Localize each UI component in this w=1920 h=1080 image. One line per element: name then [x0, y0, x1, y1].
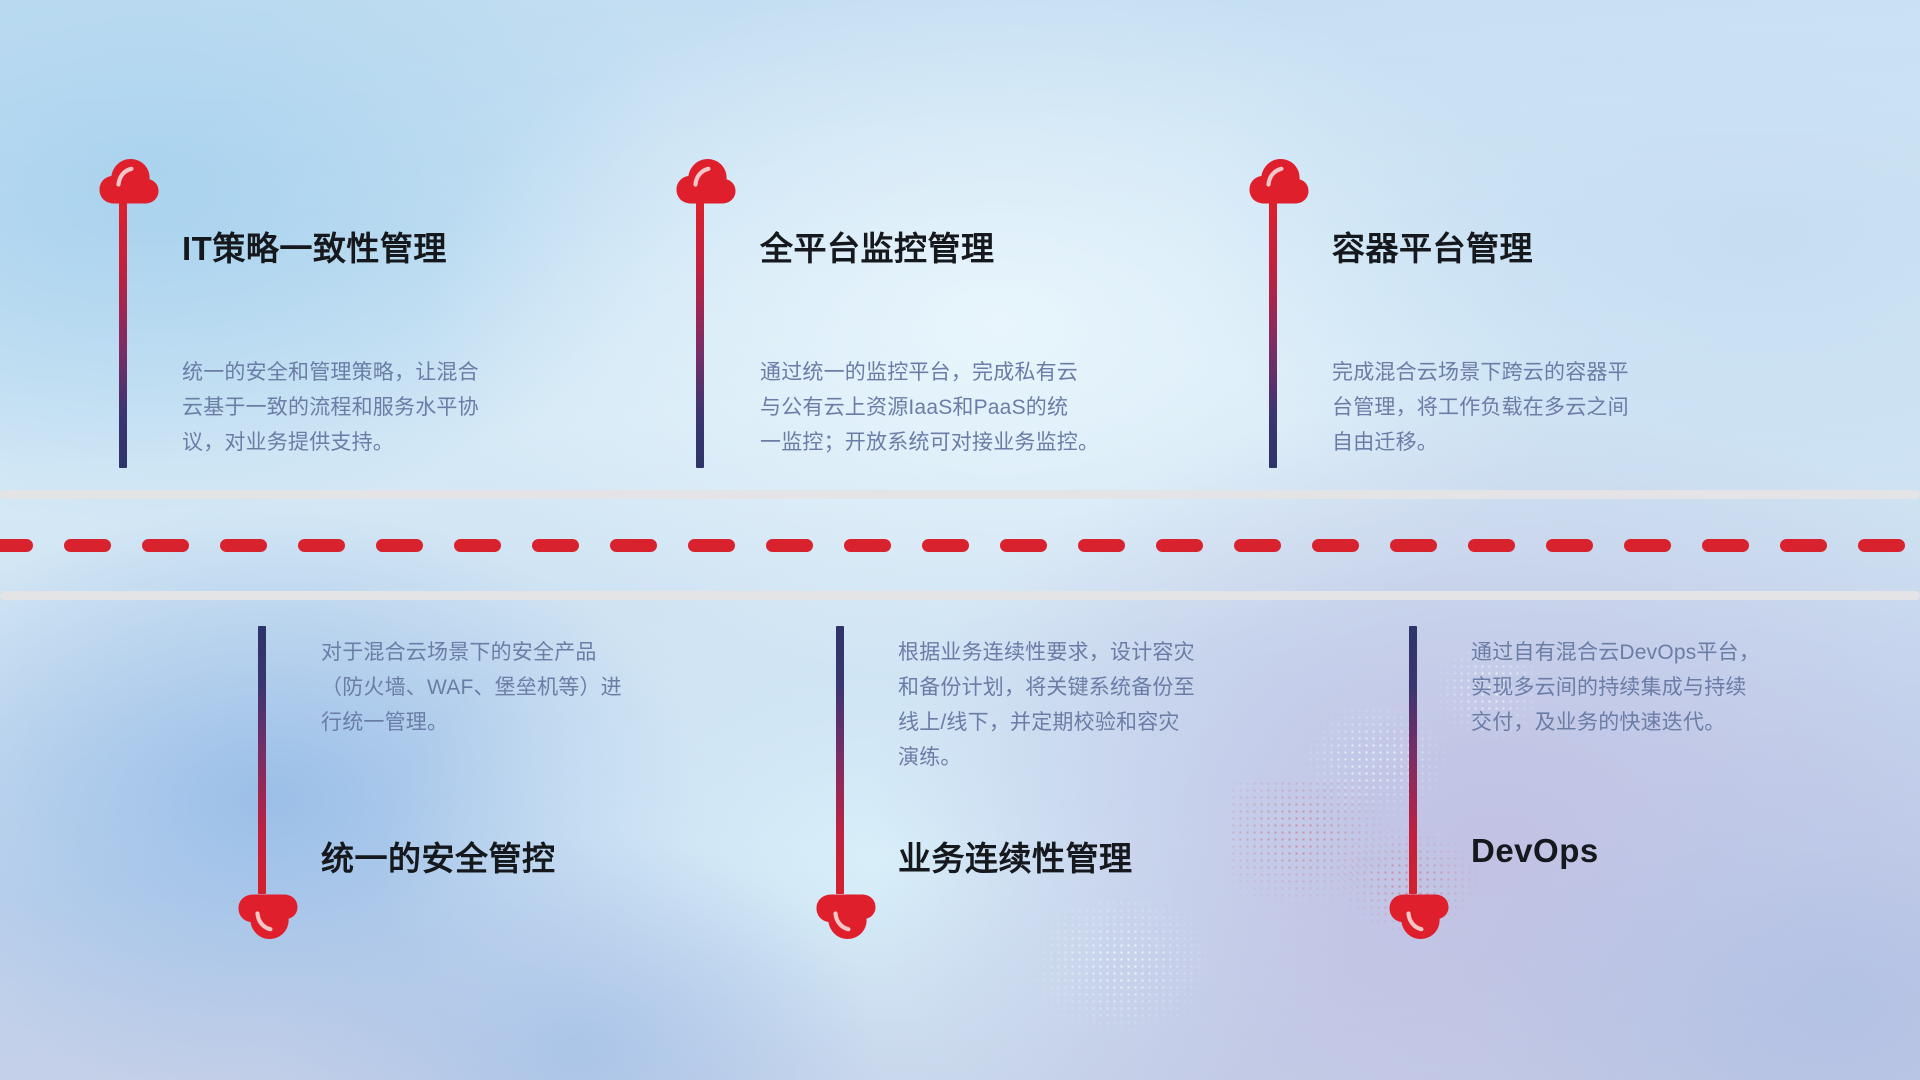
- feature-heading: 业务连续性管理: [898, 832, 1133, 880]
- connector-stem: [696, 200, 704, 468]
- description-line: 线上/线下，并定期校验和容灾: [898, 705, 1195, 740]
- dash-segment: [454, 539, 501, 552]
- decorative-dot-matrix: [1230, 780, 1400, 910]
- dash-segment: [1234, 539, 1281, 552]
- dash-segment: [1780, 539, 1827, 552]
- dash-segment: [0, 539, 33, 552]
- dash-segment: [922, 539, 969, 552]
- description-line: 和备份计划，将关键系统备份至: [898, 670, 1195, 705]
- dash-segment: [64, 539, 111, 552]
- description-line: 交付，及业务的快速迭代。: [1471, 705, 1760, 740]
- description-line: 演练。: [898, 740, 1195, 775]
- dash-segment: [1000, 539, 1047, 552]
- description-line: 统一的安全和管理策略，让混合: [182, 355, 479, 390]
- dash-segment: [1546, 539, 1593, 552]
- feature-description: 对于混合云场景下的安全产品 （防火墙、WAF、堡垒机等）进 行统一管理。: [321, 635, 622, 740]
- feature-heading: 全平台监控管理: [760, 222, 995, 270]
- cloud-icon: [815, 894, 877, 940]
- cloud-icon: [1248, 158, 1310, 204]
- dash-segment: [1312, 539, 1359, 552]
- description-line: 通过自有混合云DevOps平台，: [1471, 635, 1760, 670]
- description-line: 行统一管理。: [321, 705, 622, 740]
- cloud-icon: [1388, 894, 1450, 940]
- feature-heading: 统一的安全管控: [321, 832, 556, 880]
- description-line: 云基于一致的流程和服务水平协: [182, 390, 479, 425]
- divider-rail-bottom: [0, 591, 1920, 600]
- description-line: （防火墙、WAF、堡垒机等）进: [321, 670, 622, 705]
- description-line: 完成混合云场景下跨云的容器平: [1332, 355, 1629, 390]
- dash-segment: [610, 539, 657, 552]
- feature-description: 通过自有混合云DevOps平台， 实现多云间的持续集成与持续 交付，及业务的快速…: [1471, 635, 1760, 740]
- decorative-dot-matrix: [1020, 900, 1220, 1040]
- feature-description: 统一的安全和管理策略，让混合 云基于一致的流程和服务水平协 议，对业务提供支持。: [182, 355, 479, 460]
- cloud-icon: [675, 158, 737, 204]
- dash-segment: [1156, 539, 1203, 552]
- connector-stem: [836, 626, 844, 894]
- feature-heading: 容器平台管理: [1332, 222, 1533, 270]
- feature-description: 根据业务连续性要求，设计容灾 和备份计划，将关键系统备份至 线上/线下，并定期校…: [898, 635, 1195, 775]
- description-line: 根据业务连续性要求，设计容灾: [898, 635, 1195, 670]
- dash-segment: [766, 539, 813, 552]
- infographic-canvas: IT策略一致性管理 统一的安全和管理策略，让混合 云基于一致的流程和服务水平协 …: [0, 0, 1920, 1080]
- description-line: 通过统一的监控平台，完成私有云: [760, 355, 1099, 390]
- dashed-road-line: [0, 539, 1920, 552]
- feature-heading: DevOps: [1471, 832, 1599, 870]
- dash-segment: [688, 539, 735, 552]
- dash-segment: [532, 539, 579, 552]
- cloud-icon: [237, 894, 299, 940]
- dash-segment: [1078, 539, 1125, 552]
- description-line: 议，对业务提供支持。: [182, 425, 479, 460]
- dash-segment: [376, 539, 423, 552]
- description-line: 与公有云上资源IaaS和PaaS的统: [760, 390, 1099, 425]
- dash-segment: [844, 539, 891, 552]
- feature-heading: IT策略一致性管理: [182, 222, 447, 270]
- connector-stem: [1269, 200, 1277, 468]
- dash-segment: [1858, 539, 1905, 552]
- cloud-icon: [98, 158, 160, 204]
- connector-stem: [258, 626, 266, 894]
- feature-description: 完成混合云场景下跨云的容器平 台管理，将工作负载在多云之间 自由迁移。: [1332, 355, 1629, 460]
- connector-stem: [119, 200, 127, 468]
- dash-segment: [298, 539, 345, 552]
- center-divider: [0, 490, 1920, 600]
- dash-segment: [1390, 539, 1437, 552]
- description-line: 实现多云间的持续集成与持续: [1471, 670, 1760, 705]
- dash-segment: [142, 539, 189, 552]
- dash-segment: [1702, 539, 1749, 552]
- connector-stem: [1409, 626, 1417, 894]
- description-line: 一监控；开放系统可对接业务监控。: [760, 425, 1099, 460]
- description-line: 对于混合云场景下的安全产品: [321, 635, 622, 670]
- dash-segment: [220, 539, 267, 552]
- description-line: 自由迁移。: [1332, 425, 1629, 460]
- description-line: 台管理，将工作负载在多云之间: [1332, 390, 1629, 425]
- divider-rail-top: [0, 490, 1920, 499]
- dash-segment: [1468, 539, 1515, 552]
- dash-segment: [1624, 539, 1671, 552]
- decorative-dot-matrix: [1300, 700, 1450, 820]
- feature-description: 通过统一的监控平台，完成私有云 与公有云上资源IaaS和PaaS的统 一监控；开…: [760, 355, 1099, 460]
